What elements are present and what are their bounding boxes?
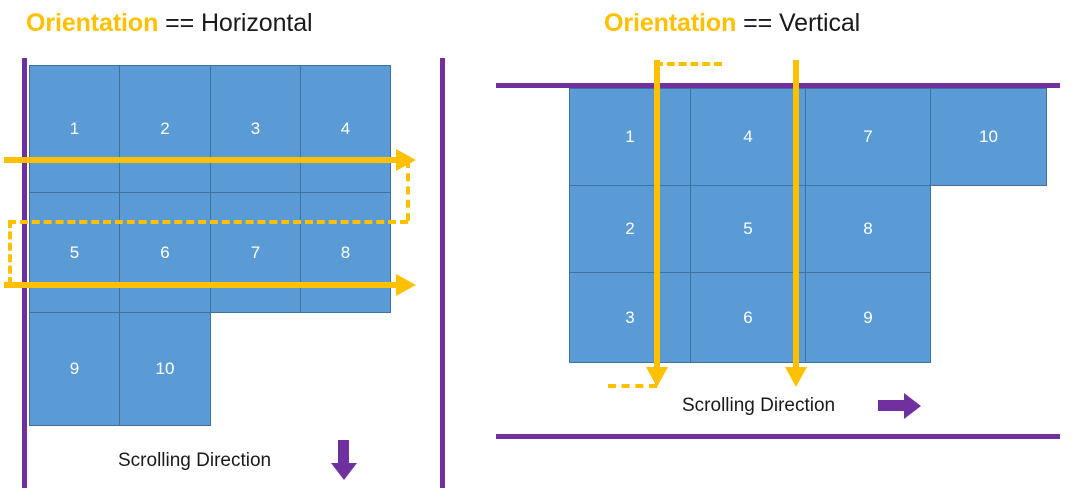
panel-title-horizontal: Orientation == Horizontal — [26, 9, 313, 38]
cell-8: 8 — [300, 192, 391, 313]
panel-orientation-horizontal: Orientation == Horizontal 1 2 3 4 5 6 7 … — [0, 0, 480, 502]
flow-arrow-row-1-head — [396, 149, 416, 171]
diagram-root: Orientation == Horizontal 1 2 3 4 5 6 7 … — [0, 0, 1080, 502]
cell-2: 2 — [569, 185, 691, 273]
arrow-right-icon-head — [904, 393, 921, 419]
flow-arrow-col-1-shaft — [654, 60, 660, 375]
scrolling-direction-label-vertical: Scrolling Direction — [682, 395, 835, 417]
cell-3: 3 — [569, 272, 691, 363]
cell-6: 6 — [119, 192, 211, 313]
wrap-connector-top-segment — [655, 62, 722, 66]
cell-10: 10 — [119, 312, 211, 426]
panel-title-keyword: Orientation — [604, 9, 736, 37]
cell-3: 3 — [210, 65, 301, 193]
viewport-rail-right — [440, 58, 445, 488]
cell-4: 4 — [300, 65, 391, 193]
cell-9: 9 — [29, 312, 120, 426]
panel-title-vertical: Orientation == Vertical — [604, 9, 860, 38]
cell-5: 5 — [690, 185, 806, 273]
panel-title-keyword: Orientation — [26, 9, 158, 37]
viewport-rail-bottom — [496, 434, 1060, 439]
cell-9: 9 — [805, 272, 931, 363]
cell-8: 8 — [805, 185, 931, 273]
cell-1: 1 — [29, 65, 120, 193]
panel-orientation-vertical: Orientation == Vertical 1 2 3 4 5 6 7 8 … — [480, 0, 1080, 502]
cell-5: 5 — [29, 192, 120, 313]
arrow-down-icon-head — [331, 463, 357, 480]
arrow-down-icon-shaft — [338, 440, 349, 465]
cell-2: 2 — [119, 65, 211, 193]
wrap-connector-mid-segment — [8, 220, 408, 224]
scrolling-direction-label-horizontal: Scrolling Direction — [118, 450, 271, 472]
flow-arrow-row-2-head — [396, 274, 416, 296]
flow-arrow-col-1-head — [646, 367, 668, 387]
flow-arrow-col-2-head — [785, 367, 807, 387]
cell-7: 7 — [805, 88, 931, 186]
arrow-right-icon-shaft — [878, 400, 906, 411]
panel-title-rest: == Horizontal — [158, 9, 312, 37]
viewport-rail-left — [22, 58, 27, 488]
cell-1: 1 — [569, 88, 691, 186]
wrap-connector-left-segment — [8, 220, 12, 285]
cell-7: 7 — [210, 192, 301, 313]
flow-arrow-col-2-shaft — [793, 60, 799, 375]
cell-10: 10 — [930, 88, 1047, 186]
flow-arrow-row-2-shaft — [4, 282, 404, 288]
flow-arrow-row-1-shaft — [4, 157, 404, 163]
cell-4: 4 — [690, 88, 806, 186]
panel-title-rest: == Vertical — [736, 9, 860, 37]
cell-6: 6 — [690, 272, 806, 363]
